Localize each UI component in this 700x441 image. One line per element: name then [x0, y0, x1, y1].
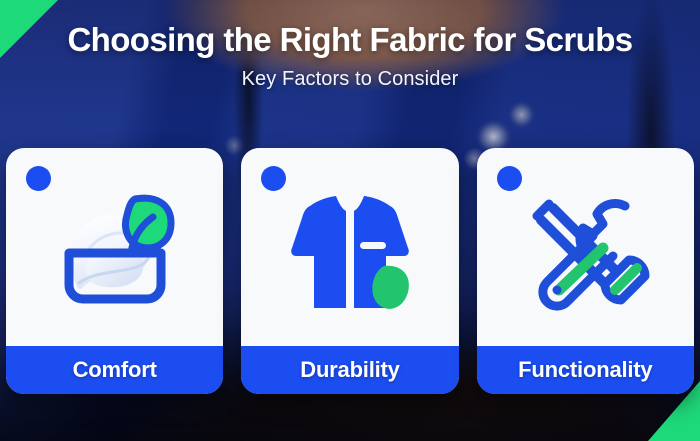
card-label: Durability: [300, 357, 399, 383]
wrench-screwdriver-tools-icon: [519, 190, 651, 318]
card-comfort[interactable]: Comfort: [6, 148, 223, 394]
infographic-slide: Choosing the Right Fabric for Scrubs Key…: [0, 0, 700, 441]
card-durability[interactable]: Durability: [241, 148, 458, 394]
card-functionality[interactable]: Functionality: [477, 148, 694, 394]
card-label: Comfort: [73, 357, 157, 383]
scrub-shirts-leaf-icon: [280, 190, 420, 318]
fabric-basket-leaf-icon: [49, 191, 181, 317]
header: Choosing the Right Fabric for Scrubs Key…: [0, 22, 700, 91]
cards-row: Comfort Durab: [6, 148, 694, 394]
blue-dot-icon: [26, 166, 51, 191]
card-footer-functionality[interactable]: Functionality: [477, 346, 694, 394]
card-footer-durability[interactable]: Durability: [241, 346, 458, 394]
blue-dot-icon: [497, 166, 522, 191]
card-footer-comfort[interactable]: Comfort: [6, 346, 223, 394]
page-subtitle: Key Factors to Consider: [0, 68, 700, 91]
card-label: Functionality: [518, 357, 652, 383]
page-title: Choosing the Right Fabric for Scrubs: [0, 22, 700, 58]
